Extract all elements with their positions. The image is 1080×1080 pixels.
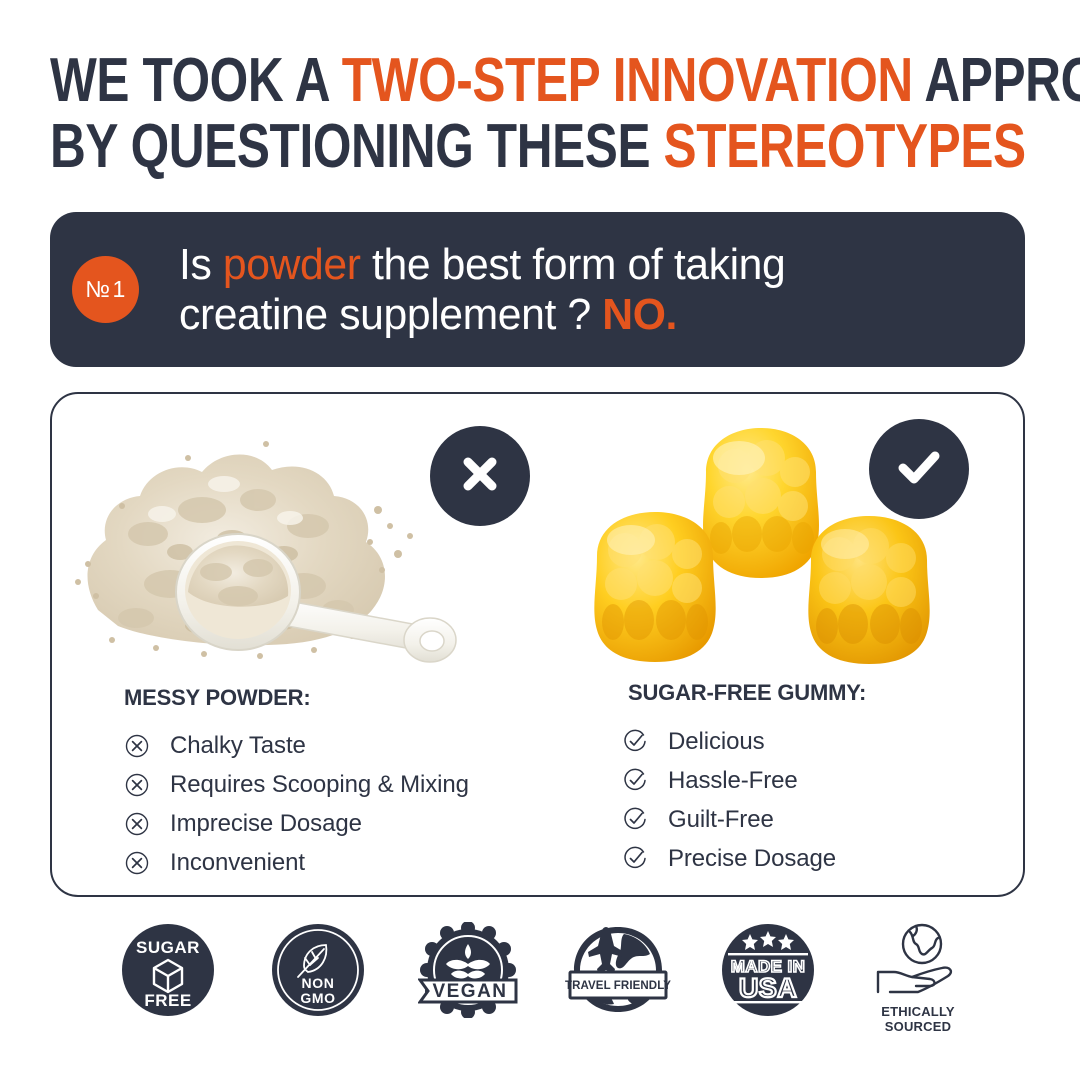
list-item: Precise Dosage <box>622 839 836 878</box>
x-mark-badge <box>430 426 530 526</box>
gummy-top <box>703 428 819 578</box>
badge-travel-friendly: TRAVEL FRIENDLY <box>568 922 668 1018</box>
infographic-page: WE TOOK A TWO-STEP INNOVATION APPROACH B… <box>0 0 1080 1080</box>
list-item-label: Hassle-Free <box>668 767 798 795</box>
comparison-column-gummy: SUGAR-FREE GUMMY: Delicious <box>539 394 1025 895</box>
list-item: Chalky Taste <box>124 726 469 765</box>
non-gmo-line-1: NON <box>302 975 335 991</box>
title-line-2: BY QUESTIONING THESE STEREOTYPES <box>50 118 834 176</box>
question-text: Is powder the best form of taking creati… <box>179 240 785 340</box>
sugar-free-icon: SUGAR FREE <box>120 922 216 1018</box>
gummy-right <box>808 516 929 664</box>
question-line-1: Is powder the best form of taking <box>179 240 785 290</box>
badge-ethically-sourced: ETHICALLYSOURCED <box>868 922 968 1034</box>
badge-vegan: VEGAN <box>418 922 518 1018</box>
check-mark-icon <box>890 438 948 501</box>
question-highlight-powder: powder <box>223 240 361 289</box>
question-line-2: creatine supplement ? NO. <box>179 290 785 340</box>
comparison-card: MESSY POWDER: Chalky Taste <box>50 392 1025 897</box>
circle-check-icon <box>622 807 648 833</box>
list-item-label: Imprecise Dosage <box>170 810 362 838</box>
question-answer: NO <box>602 290 665 339</box>
circle-x-icon <box>124 733 150 759</box>
gummy-list-title: SUGAR-FREE GUMMY: <box>628 680 866 706</box>
title-line-1-highlight: TWO-STEP INNOVATION <box>342 46 913 115</box>
list-item-label: Requires Scooping & Mixing <box>170 771 469 799</box>
non-gmo-line-2: GMO <box>300 990 335 1006</box>
vegan-icon: VEGAN <box>418 922 518 1018</box>
question-banner: № 1 Is powder the best form of taking cr… <box>50 212 1025 367</box>
list-item-label: Chalky Taste <box>170 732 306 760</box>
title-line-1: WE TOOK A TWO-STEP INNOVATION APPROACH <box>50 52 834 110</box>
circle-x-icon <box>124 772 150 798</box>
x-mark-icon <box>453 447 507 506</box>
list-item: Delicious <box>622 722 836 761</box>
question-answer-period: . <box>666 290 677 339</box>
badge-made-in-usa: MADE IN USA <box>718 922 818 1018</box>
check-mark-badge <box>869 419 969 519</box>
sugar-free-line-2: FREE <box>144 991 191 1010</box>
question-part-2: the best form of taking <box>361 240 786 289</box>
travel-friendly-label: TRAVEL FRIENDLY <box>565 980 671 992</box>
title-line-1-part-2: APPROACH <box>913 46 1080 115</box>
circle-check-icon <box>622 768 648 794</box>
list-item: Hassle-Free <box>622 761 836 800</box>
list-item-label: Inconvenient <box>170 849 305 877</box>
question-line-2-text: creatine supplement ? <box>179 290 602 339</box>
trust-badges-row: SUGAR FREE N <box>118 922 968 1034</box>
circle-x-icon <box>124 811 150 837</box>
travel-friendly-label-box: TRAVEL FRIENDLY <box>565 972 671 998</box>
number-badge: № 1 <box>72 256 139 323</box>
non-gmo-icon: NON GMO <box>270 922 366 1018</box>
powder-cons-list: Chalky Taste Requires Scooping & Mixing <box>124 726 469 882</box>
list-item-label: Guilt-Free <box>668 806 774 834</box>
vegan-ribbon: VEGAN <box>420 980 516 1002</box>
page-title: WE TOOK A TWO-STEP INNOVATION APPROACH B… <box>50 52 1030 184</box>
title-line-2-part-1: BY QUESTIONING THESE <box>50 112 664 181</box>
comparison-column-powder: MESSY POWDER: Chalky Taste <box>52 394 539 895</box>
globe-in-hand-icon <box>870 922 966 1000</box>
title-line-1-part-1: WE TOOK A <box>50 46 342 115</box>
sugar-free-line-1: SUGAR <box>136 938 200 957</box>
vegan-label: VEGAN <box>432 981 507 1002</box>
made-in-usa-icon: MADE IN USA <box>720 922 816 1018</box>
list-item-label: Precise Dosage <box>668 845 836 873</box>
list-item: Imprecise Dosage <box>124 804 469 843</box>
travel-friendly-icon: TRAVEL FRIENDLY <box>562 922 674 1018</box>
circle-x-icon <box>124 850 150 876</box>
list-item: Inconvenient <box>124 843 469 882</box>
list-item: Requires Scooping & Mixing <box>124 765 469 804</box>
scalloped-seal-icon <box>420 922 516 1018</box>
usa-label: USA <box>739 973 797 1003</box>
gummy-pros-list: Delicious Hassle-Free <box>622 722 836 878</box>
circle-check-icon <box>622 846 648 872</box>
ethically-sourced-caption: ETHICALLYSOURCED <box>881 1004 955 1034</box>
gummy-left <box>594 512 715 662</box>
badge-sugar-free: SUGAR FREE <box>118 922 218 1018</box>
list-item-label: Delicious <box>668 728 764 756</box>
title-line-2-highlight: STEREOTYPES <box>664 112 1026 181</box>
powder-list-title: MESSY POWDER: <box>124 685 310 711</box>
question-part-1: Is <box>179 240 223 289</box>
badge-non-gmo: NON GMO <box>268 922 368 1018</box>
list-item: Guilt-Free <box>622 800 836 839</box>
circle-check-icon <box>622 729 648 755</box>
